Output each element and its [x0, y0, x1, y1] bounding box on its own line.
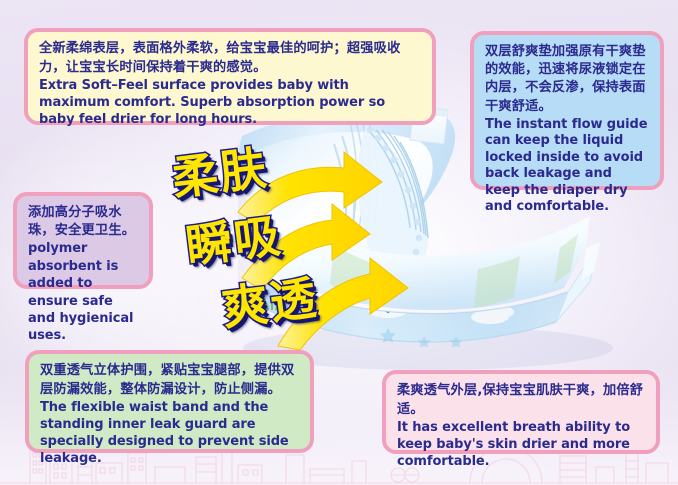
callout-bottom-left-english: The flexible waist band and the standing…: [40, 400, 299, 468]
callout-mid-left: 添加高分子吸水珠，安全更卫生。 polymer absorbent is add…: [13, 192, 153, 289]
callout-bottom-right-chinese: 柔爽透气外层,保持宝宝肌肤干爽，加倍舒适。: [397, 382, 645, 419]
callout-top-left-english: Extra Soft–Feel surface provides baby wi…: [39, 78, 421, 129]
callout-mid-left-chinese: 添加高分子吸水珠，安全更卫生。: [28, 204, 138, 239]
callout-top-left: 全新柔绵表层，表面格外柔软，给宝宝最佳的呵护；超强吸收力，让宝宝长时间保持着干爽…: [24, 28, 436, 125]
callout-bottom-right-english: It has excellent breath ability to keep …: [397, 420, 645, 471]
slogan-breathable: 爽透: [220, 274, 321, 331]
callout-top-left-chinese: 全新柔绵表层，表面格外柔软，给宝宝最佳的呵护；超强吸收力，让宝宝长时间保持着干爽…: [39, 40, 421, 77]
callout-top-right-chinese: 双层舒爽垫加强原有干爽垫的效能，迅速将尿液锁定在内层，不会反渗，保持表面干爽舒适…: [485, 43, 649, 116]
product-poster: 柔肤 瞬吸 爽透 全新柔绵表层，表面格外柔软，给宝宝最佳的呵护；超强吸收力，让宝…: [0, 0, 678, 485]
callout-top-right: 双层舒爽垫加强原有干爽垫的效能，迅速将尿液锁定在内层，不会反渗，保持表面干爽舒适…: [470, 31, 664, 190]
slogan-instant-absorb: 瞬吸: [184, 212, 285, 269]
slogan-soft-skin: 柔肤: [170, 144, 271, 201]
callout-bottom-left-chinese: 双重透气立体护围，紧贴宝宝腿部，提供双层防漏效能，整体防漏设计，防止侧漏。: [40, 362, 299, 399]
callout-bottom-left: 双重透气立体护围，紧贴宝宝腿部，提供双层防漏效能，整体防漏设计，防止侧漏。 Th…: [25, 350, 314, 453]
callout-mid-left-english: polymer absorbent is added to ensure saf…: [28, 240, 138, 344]
callout-bottom-right: 柔爽透气外层,保持宝宝肌肤干爽，加倍舒适。 It has excellent b…: [382, 370, 660, 454]
callout-top-right-english: The instant flow guide can keep the liqu…: [485, 117, 649, 216]
